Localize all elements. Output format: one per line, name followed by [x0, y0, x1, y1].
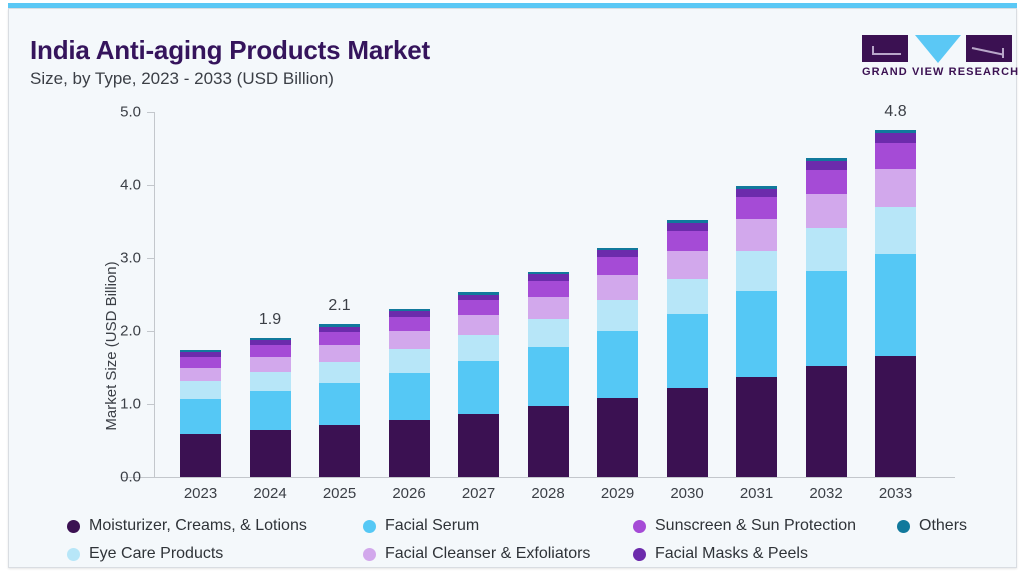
bar-segment[interactable] — [319, 425, 360, 477]
bar-segment[interactable] — [250, 340, 291, 345]
bar-segment[interactable] — [667, 279, 708, 314]
bar-segment[interactable] — [875, 130, 916, 133]
bar-segment[interactable] — [389, 331, 430, 349]
y-axis-label: Market Size (USD Billion) — [103, 176, 120, 516]
bar-segment[interactable] — [250, 391, 291, 430]
y-axis-tick-mark — [147, 331, 155, 332]
bar-segment[interactable] — [319, 383, 360, 425]
bar-segment[interactable] — [597, 331, 638, 398]
bar-segment[interactable] — [458, 414, 499, 478]
x-axis-tick-label: 2032 — [792, 485, 861, 502]
x-axis-tick-label: 2028 — [514, 485, 583, 502]
page-title: India Anti-aging Products Market — [30, 35, 430, 66]
bar-segment[interactable] — [250, 372, 291, 391]
bar-segment[interactable] — [667, 388, 708, 477]
chart-panel: India Anti-aging Products Market Size, b… — [8, 8, 1017, 568]
bar-segment[interactable] — [667, 314, 708, 388]
x-axis-tick-label: 2033 — [861, 485, 930, 502]
bar-segment[interactable] — [180, 399, 221, 434]
bar-segment[interactable] — [806, 161, 847, 170]
legend-item[interactable]: Facial Masks & Peels — [633, 545, 808, 563]
logo-right-diagonal-line — [972, 47, 1004, 56]
legend-item[interactable]: Moisturizer, Creams, & Lotions — [67, 517, 307, 535]
y-axis-tick-mark — [147, 185, 155, 186]
bar-segment[interactable] — [250, 338, 291, 340]
bar-segment[interactable] — [736, 377, 777, 477]
bar-segment[interactable] — [597, 257, 638, 275]
bar-segment[interactable] — [806, 158, 847, 161]
legend-color-swatch-icon — [363, 548, 376, 561]
bar-segment[interactable] — [875, 133, 916, 142]
bar-segment[interactable] — [389, 317, 430, 331]
bar-segment[interactable] — [597, 300, 638, 331]
plot-area: Market Size (USD Billion) 1.92.14.8 — [155, 112, 955, 477]
legend-item[interactable]: Others — [897, 517, 967, 535]
bar-segment[interactable] — [528, 297, 569, 320]
chart-card: India Anti-aging Products Market Size, b… — [0, 0, 1025, 576]
legend-item[interactable]: Facial Cleanser & Exfoliators — [363, 545, 590, 563]
y-axis-tick-mark — [147, 258, 155, 259]
bar-segment[interactable] — [180, 352, 221, 357]
bar-segment[interactable] — [180, 350, 221, 352]
bar-segment[interactable] — [389, 373, 430, 420]
legend-label: Others — [919, 517, 967, 535]
bar-segment[interactable] — [458, 295, 499, 301]
bar-segment[interactable] — [180, 368, 221, 382]
x-axis-tick-label: 2029 — [583, 485, 652, 502]
legend-color-swatch-icon — [633, 520, 646, 533]
y-axis-tick-mark — [147, 477, 155, 478]
bar-segment[interactable] — [806, 271, 847, 366]
legend-label: Eye Care Products — [89, 545, 223, 563]
chart-legend: Moisturizer, Creams, & LotionsFacial Ser… — [67, 517, 1007, 567]
bar-segment[interactable] — [806, 170, 847, 194]
legend-label: Facial Cleanser & Exfoliators — [385, 545, 590, 563]
y-axis-tick-mark — [147, 404, 155, 405]
page-subtitle: Size, by Type, 2023 - 2033 (USD Billion) — [30, 69, 334, 89]
bar-segment[interactable] — [736, 186, 777, 189]
bar-segment[interactable] — [597, 250, 638, 257]
bar-segment[interactable] — [458, 292, 499, 294]
bar-segment[interactable] — [875, 207, 916, 254]
bar-segment[interactable] — [319, 345, 360, 362]
bar-segment[interactable] — [667, 251, 708, 279]
x-axis-line — [122, 477, 955, 478]
legend-label: Facial Masks & Peels — [655, 545, 808, 563]
bar-segment[interactable] — [875, 143, 916, 169]
bar-segment[interactable] — [389, 420, 430, 477]
bar-segment[interactable] — [875, 356, 916, 477]
bar-segment[interactable] — [597, 398, 638, 477]
bar-segment[interactable] — [389, 349, 430, 372]
legend-label: Sunscreen & Sun Protection — [655, 517, 856, 535]
bar-segment[interactable] — [250, 357, 291, 372]
x-axis-tick-label: 2023 — [166, 485, 235, 502]
bar-segment[interactable] — [528, 281, 569, 297]
legend-color-swatch-icon — [897, 520, 910, 533]
bar-segment[interactable] — [528, 319, 569, 347]
logo-left-horizontal-line — [872, 53, 901, 55]
bar-segment[interactable] — [597, 248, 638, 250]
bar-segment[interactable] — [319, 362, 360, 383]
legend-label: Moisturizer, Creams, & Lotions — [89, 517, 307, 535]
legend-color-swatch-icon — [67, 520, 80, 533]
x-axis-tick-label: 2026 — [375, 485, 444, 502]
x-axis-tick-label: 2025 — [305, 485, 374, 502]
bar-segment[interactable] — [528, 272, 569, 274]
bar-segment[interactable] — [806, 194, 847, 228]
logo-rect-left-icon — [862, 35, 908, 62]
legend-label: Facial Serum — [385, 517, 479, 535]
bar-segment[interactable] — [806, 366, 847, 477]
bar-segment[interactable] — [875, 169, 916, 207]
x-axis-tick-label: 2024 — [236, 485, 305, 502]
x-axis-tick-label: 2030 — [653, 485, 722, 502]
bar-segment[interactable] — [319, 324, 360, 326]
bar-segment[interactable] — [736, 197, 777, 219]
bar-segment[interactable] — [667, 220, 708, 223]
grand-view-research-logo: GRAND VIEW RESEARCH — [862, 35, 1012, 83]
bar-segment[interactable] — [667, 231, 708, 251]
bar-segment[interactable] — [736, 291, 777, 377]
bar-segment[interactable] — [250, 430, 291, 477]
bar-value-label: 2.1 — [305, 297, 374, 315]
bar-value-label: 4.8 — [861, 103, 930, 121]
bar-segment[interactable] — [180, 357, 221, 367]
legend-item[interactable]: Sunscreen & Sun Protection — [633, 517, 856, 535]
bar-segment[interactable] — [736, 251, 777, 291]
y-axis-tick-label: 5.0 — [105, 104, 141, 121]
bar-segment[interactable] — [250, 345, 291, 357]
logo-triangle-icon — [915, 35, 961, 63]
logo-wordmark: GRAND VIEW RESEARCH — [862, 66, 1012, 78]
bar-segment[interactable] — [180, 434, 221, 477]
bar-segment[interactable] — [180, 381, 221, 399]
bar-segment[interactable] — [319, 327, 360, 333]
bar-segment[interactable] — [528, 347, 569, 406]
bar-segment[interactable] — [806, 228, 847, 271]
bar-segment[interactable] — [736, 219, 777, 250]
bar-segment[interactable] — [667, 223, 708, 231]
bar-segment[interactable] — [458, 361, 499, 414]
bar-segment[interactable] — [458, 335, 499, 361]
bar-segment[interactable] — [528, 274, 569, 281]
bar-segment[interactable] — [389, 311, 430, 317]
bar-segment[interactable] — [528, 406, 569, 477]
bar-segment[interactable] — [458, 300, 499, 315]
legend-item[interactable]: Facial Serum — [363, 517, 479, 535]
logo-rect-right-icon — [966, 35, 1012, 62]
legend-item[interactable]: Eye Care Products — [67, 545, 223, 563]
bar-segment[interactable] — [389, 309, 430, 311]
bar-segment[interactable] — [875, 254, 916, 355]
y-axis-tick-mark — [147, 112, 155, 113]
legend-color-swatch-icon — [363, 520, 376, 533]
x-axis-tick-label: 2027 — [444, 485, 513, 502]
bar-segment[interactable] — [736, 189, 777, 197]
legend-color-swatch-icon — [67, 548, 80, 561]
bar-segment[interactable] — [319, 332, 360, 344]
x-axis-tick-label: 2031 — [722, 485, 791, 502]
legend-color-swatch-icon — [633, 548, 646, 561]
bar-segment[interactable] — [597, 275, 638, 301]
bar-value-label: 1.9 — [236, 311, 305, 329]
bar-segment[interactable] — [458, 315, 499, 335]
logo-right-vertical-line — [1002, 48, 1004, 58]
